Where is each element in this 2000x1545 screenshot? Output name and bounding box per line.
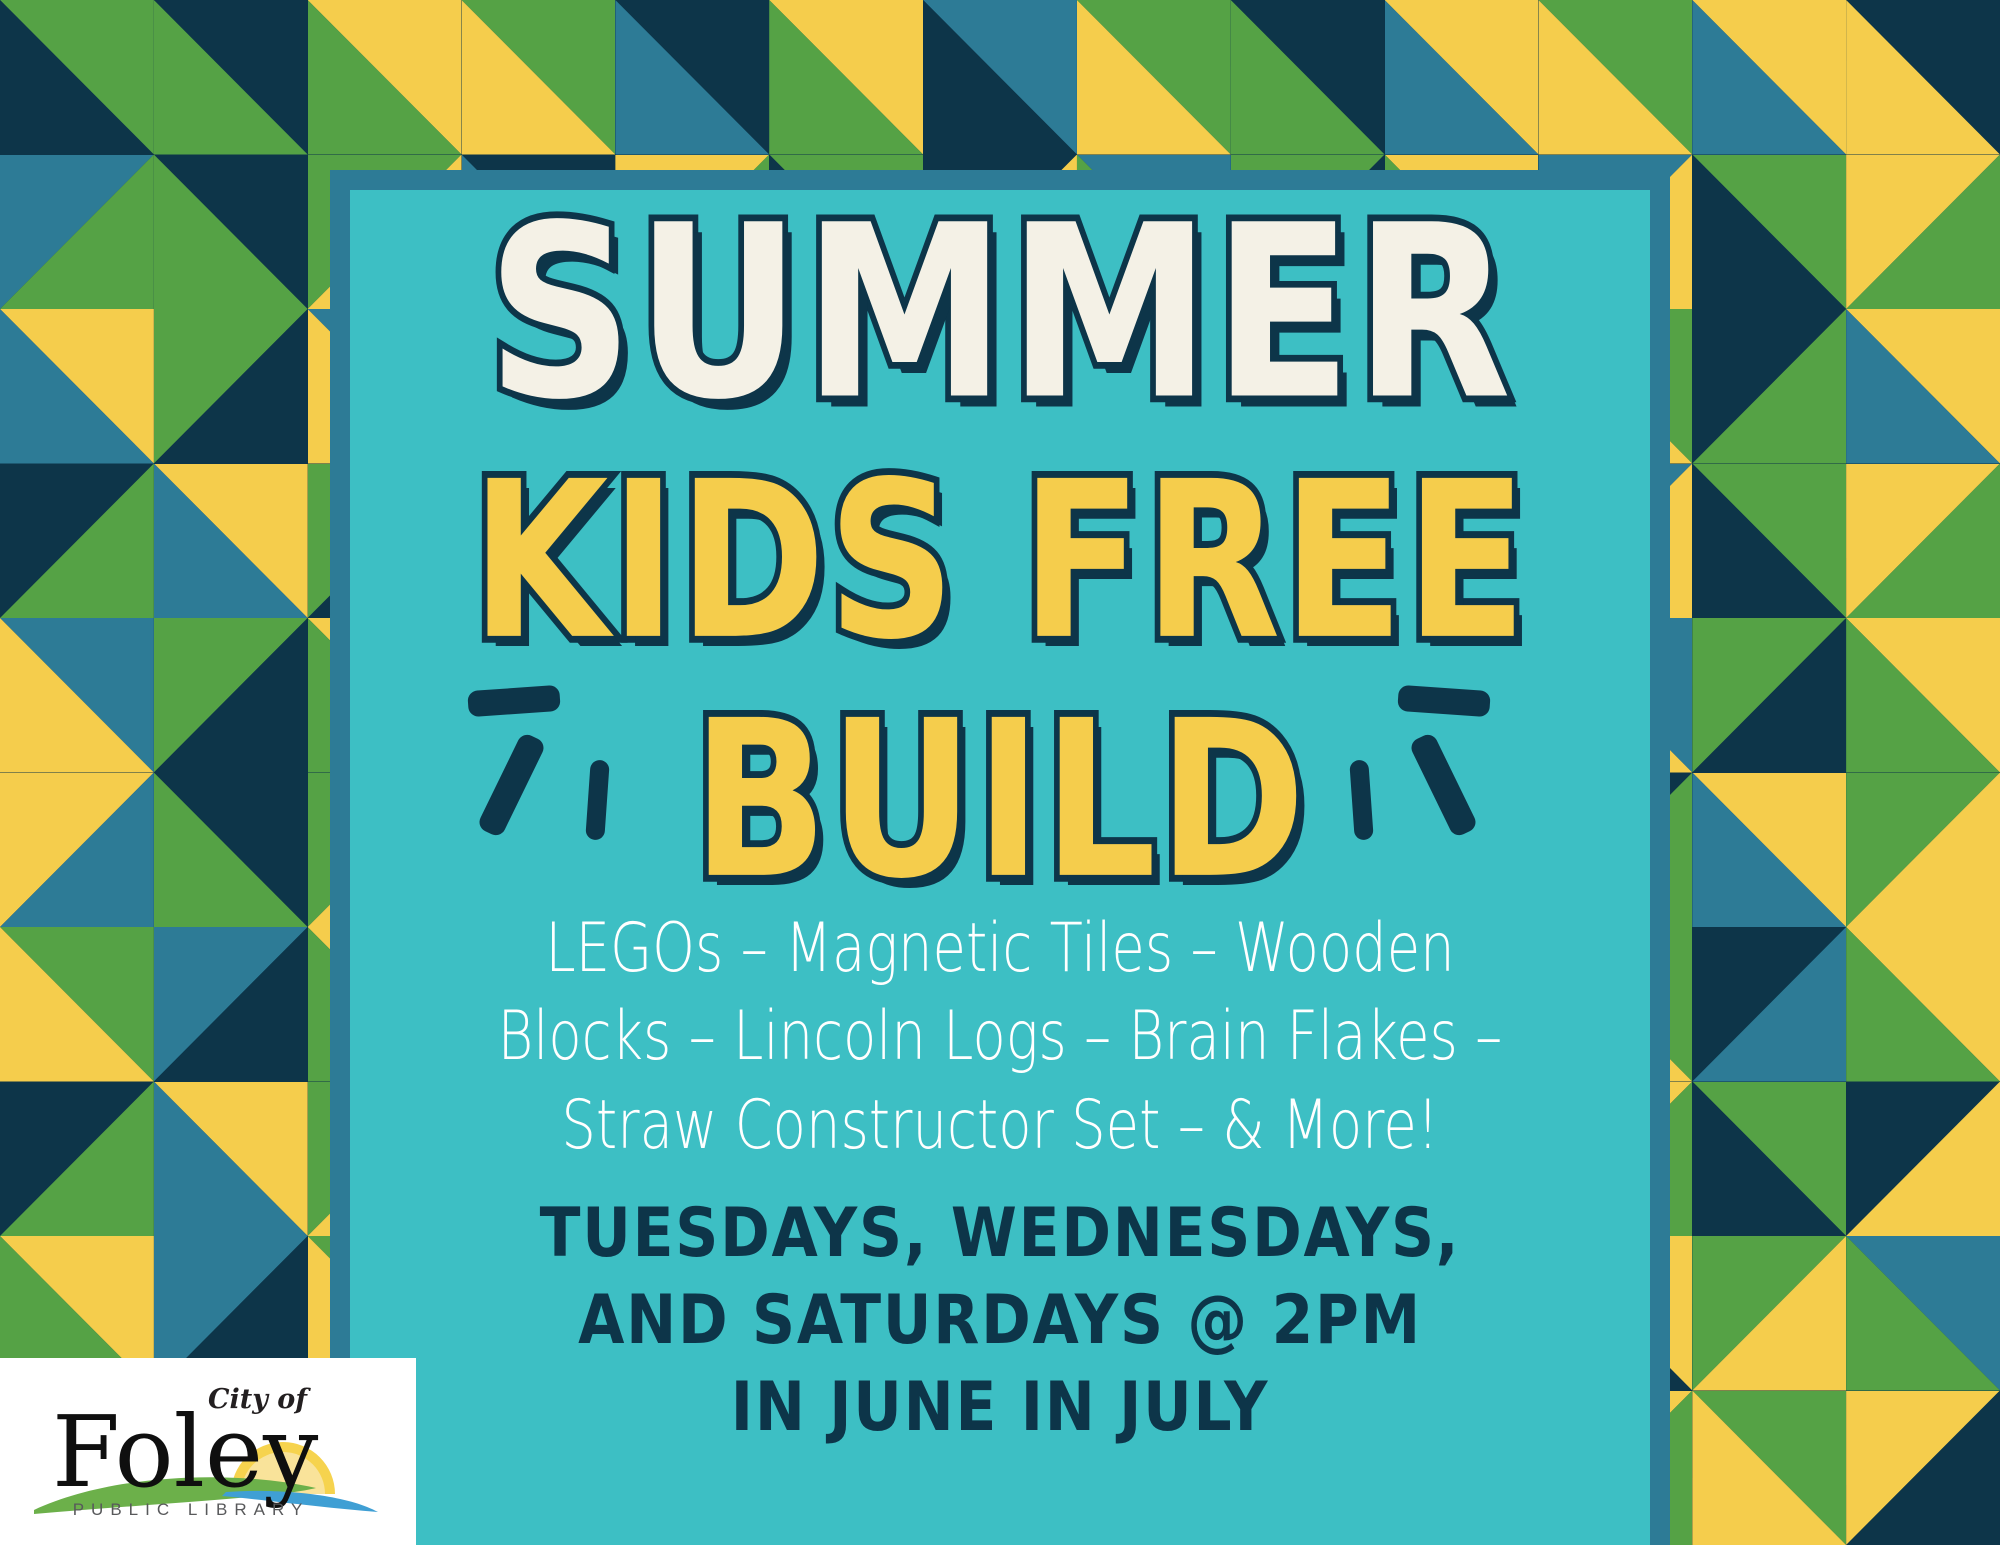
- mosaic-tile: [1846, 309, 2000, 464]
- mosaic-tile: [1231, 0, 1385, 155]
- mosaic-tile: [154, 773, 308, 928]
- mosaic-tile: [1692, 0, 1846, 155]
- mosaic-tile: [154, 1082, 308, 1237]
- materials-line-2: Blocks – Lincoln Logs – Brain Flakes –: [480, 993, 1520, 1081]
- mosaic-tile: [1846, 1236, 2000, 1391]
- materials-list: LEGOs – Magnetic Tiles – Wooden Blocks –…: [350, 905, 1650, 1170]
- mosaic-tile: [1692, 773, 1846, 928]
- mosaic-tile: [1692, 309, 1846, 464]
- mosaic-tile: [1846, 0, 2000, 155]
- mosaic-tile: [462, 0, 616, 155]
- mosaic-tile: [154, 309, 308, 464]
- mosaic-tile: [1846, 1082, 2000, 1237]
- mosaic-tile: [308, 0, 462, 155]
- headline-word-summer: SUMMER: [324, 204, 1676, 424]
- mosaic-tile: [1846, 155, 2000, 310]
- mosaic-tile: [923, 0, 1077, 155]
- mosaic-tile: [0, 1082, 154, 1237]
- logo-foley-text: Foley: [52, 1396, 319, 1510]
- mosaic-tile: [615, 0, 769, 155]
- mosaic-tile: [0, 773, 154, 928]
- logo-public-library-text: PUBLIC LIBRARY: [26, 1500, 356, 1520]
- mosaic-tile: [0, 155, 154, 310]
- mosaic-tile: [0, 464, 154, 619]
- poster-canvas: SUMMER KIDS FREE BUILD LEGOs – Magnetic …: [0, 0, 2000, 1545]
- mosaic-tile: [1692, 927, 1846, 1082]
- schedule-block: TUESDAYS, WEDNESDAYS, AND SATURDAYS @ 2P…: [350, 1190, 1650, 1451]
- mosaic-tile: [769, 0, 923, 155]
- mosaic-tile: [1846, 927, 2000, 1082]
- materials-line-3: Straw Constructor Set – & More!: [480, 1082, 1520, 1170]
- mosaic-tile: [154, 464, 308, 619]
- mosaic-tile: [0, 309, 154, 464]
- schedule-line-saturday-time: AND SATURDAYS @ 2PM: [428, 1277, 1572, 1364]
- mosaic-tile: [154, 0, 308, 155]
- mosaic-tile: [1692, 464, 1846, 619]
- schedule-line-months: IN JUNE IN JULY: [428, 1364, 1572, 1451]
- mosaic-tile: [1385, 0, 1539, 155]
- mosaic-tile: [1692, 1391, 1846, 1545]
- headline-block: SUMMER KIDS FREE BUILD: [350, 190, 1650, 859]
- mosaic-tile: [0, 618, 154, 773]
- headline-word-build: BUILD: [331, 701, 1670, 900]
- mosaic-tile: [1846, 618, 2000, 773]
- mosaic-tile: [1692, 618, 1846, 773]
- mosaic-tile: [1692, 1236, 1846, 1391]
- headline-word-kids-free: KIDS FREE: [331, 462, 1670, 661]
- mosaic-tile: [0, 0, 154, 155]
- mosaic-tile: [1077, 0, 1231, 155]
- mosaic-tile: [1692, 1082, 1846, 1237]
- mosaic-tile: [1538, 0, 1692, 155]
- schedule-line-days: TUESDAYS, WEDNESDAYS,: [428, 1190, 1572, 1277]
- mosaic-tile: [1846, 464, 2000, 619]
- mosaic-tile: [1846, 1391, 2000, 1545]
- mosaic-tile: [1846, 773, 2000, 928]
- mosaic-tile: [154, 155, 308, 310]
- mosaic-tile: [154, 927, 308, 1082]
- materials-line-1: LEGOs – Magnetic Tiles – Wooden: [480, 905, 1520, 993]
- library-logo: City of Foley PUBLIC LIBRARY: [0, 1358, 416, 1545]
- mosaic-tile: [154, 618, 308, 773]
- mosaic-tile: [1692, 155, 1846, 310]
- mosaic-tile: [0, 927, 154, 1082]
